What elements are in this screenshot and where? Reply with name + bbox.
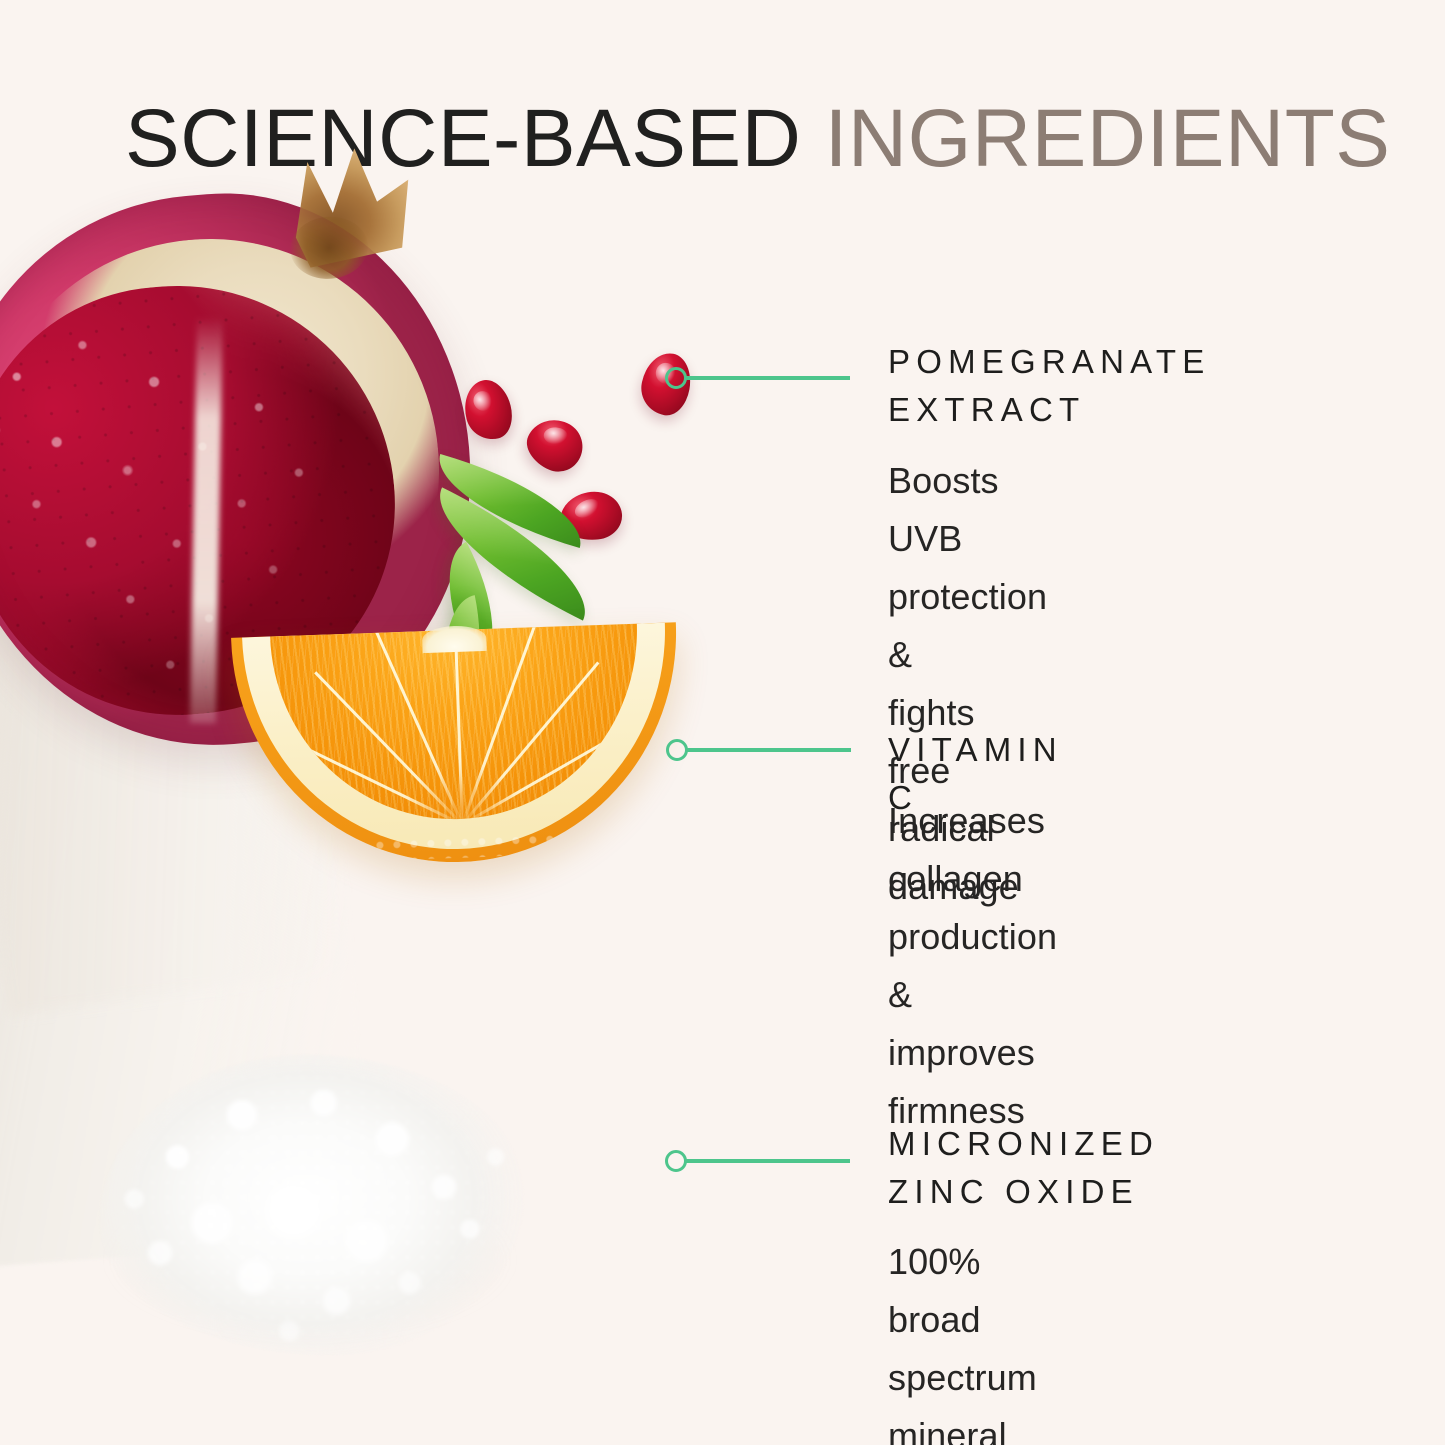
- page-title-part-two: INGREDIENTS: [825, 93, 1391, 184]
- leader-line-vitamin-c: [666, 739, 851, 761]
- callout-body-zinc: 100% broad spectrum mineral protection: [888, 1233, 1047, 1445]
- leader-line-pomegranate: [665, 367, 850, 389]
- orange-core: [421, 625, 486, 653]
- page-title: SCIENCE-BASED INGREDIENTS: [125, 92, 1391, 186]
- leader-stroke: [686, 376, 850, 380]
- zinc-oxide-powder-image: [40, 995, 600, 1445]
- orange-wedge-image: [231, 622, 684, 869]
- leader-line-zinc: [665, 1150, 850, 1172]
- leader-dot-icon: [665, 1150, 687, 1172]
- callout-heading-zinc: MICRONIZED ZINC OXIDE: [888, 1120, 1159, 1216]
- ingredient-photo-stage: [0, 175, 730, 1445]
- leader-dot-icon: [665, 367, 687, 389]
- leader-dot-icon: [666, 739, 688, 761]
- page-title-part-one: SCIENCE-BASED: [125, 93, 825, 184]
- ingredients-poster: SCIENCE-BASED INGREDIENTS: [0, 0, 1445, 1445]
- orange-pith: [242, 623, 672, 857]
- callout-body-vitamin-c: Increases collagen production & improves…: [888, 792, 1057, 1140]
- powder-granules: [100, 1055, 530, 1355]
- orange-flesh: [270, 624, 643, 826]
- powder-mound: [100, 1055, 530, 1355]
- pomegranate-seed: [519, 411, 590, 479]
- leader-stroke: [687, 748, 851, 752]
- orange-peel: [231, 622, 684, 869]
- leader-stroke: [686, 1159, 850, 1163]
- callout-heading-pomegranate: POMEGRANATE EXTRACT: [888, 338, 1210, 434]
